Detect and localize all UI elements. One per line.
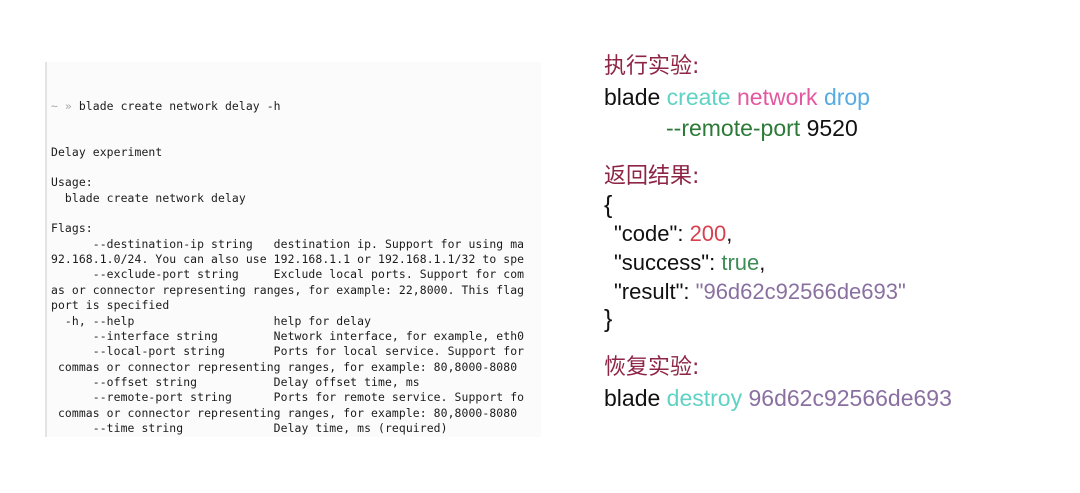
json-value-success: true <box>721 250 759 275</box>
network-target-token: network <box>737 84 818 110</box>
restore-heading: 恢复实验: <box>604 353 1044 383</box>
terminal-line: -h, --help help for delay <box>51 314 541 329</box>
terminal-line: blade create network delay <box>51 191 541 206</box>
remote-port-flag-token: --remote-port <box>666 115 800 141</box>
terminal-line: --exclude-port string Exclude local port… <box>51 267 541 282</box>
terminal-line: 92.168.1.0/24. You can also use 192.168.… <box>51 252 541 267</box>
terminal-output-panel: ~ » blade create network delay -h Delay … <box>45 62 541 437</box>
prompt-symbol: ~ » <box>51 99 72 113</box>
terminal-line: --local-port string Ports for local serv… <box>51 344 541 359</box>
json-open-brace: { <box>604 192 1044 219</box>
spacer-execute-result <box>604 144 1044 162</box>
json-key-code: "code": <box>614 221 683 246</box>
restore-experiment-section: 恢复实验: blade destroy 96d62c92566de693 <box>604 353 1044 414</box>
execute-experiment-section: 执行实验: blade create network drop --remote… <box>604 52 1044 144</box>
json-comma-code: , <box>726 221 732 246</box>
json-field-success: "success": true, <box>604 248 1044 277</box>
terminal-line: commas or connector representing ranges,… <box>51 360 541 375</box>
terminal-line <box>51 160 541 175</box>
drop-action-token: drop <box>824 84 870 110</box>
terminal-line: Usage: <box>51 175 541 190</box>
json-value-result: "96d62c92566de693" <box>696 279 906 304</box>
terminal-line: commas or connector representing ranges,… <box>51 406 541 421</box>
json-field-code: "code": 200, <box>604 219 1044 248</box>
execute-command-line-1: blade create network drop <box>604 82 1044 113</box>
remote-port-value-token: 9520 <box>807 115 858 141</box>
terminal-line: --destination-ip string destination ip. … <box>51 237 541 252</box>
create-verb-token: create <box>667 84 731 110</box>
terminal-prompt-line: ~ » blade create network delay -h <box>51 99 541 114</box>
destroy-uid-token: 96d62c92566de693 <box>749 385 952 411</box>
terminal-line: Flags: <box>51 221 541 236</box>
execute-heading: 执行实验: <box>604 52 1044 82</box>
terminal-line: Delay experiment <box>51 145 541 160</box>
blade-binary-token-restore: blade <box>604 385 660 411</box>
terminal-text: ~ » blade create network delay -h Delay … <box>51 68 541 437</box>
destroy-verb-token: destroy <box>667 385 742 411</box>
terminal-line: --time string Delay time, ms (required) <box>51 421 541 436</box>
json-key-result: "result": <box>614 279 690 304</box>
terminal-line: as or connector representing ranges, for… <box>51 283 541 298</box>
blade-binary-token: blade <box>604 84 660 110</box>
restore-command-line: blade destroy 96d62c92566de693 <box>604 383 1044 414</box>
terminal-line: --interface string Network interface, fo… <box>51 329 541 344</box>
json-value-code: 200 <box>690 221 727 246</box>
json-key-success: "success": <box>614 250 715 275</box>
terminal-command-text: blade create network delay -h <box>79 99 281 113</box>
terminal-command <box>72 99 79 113</box>
terminal-line: --remote-port string Ports for remote se… <box>51 390 541 405</box>
terminal-line: port is specified <box>51 298 541 313</box>
result-heading: 返回结果: <box>604 162 1044 192</box>
terminal-line: --offset string Delay offset time, ms <box>51 375 541 390</box>
json-comma-success: , <box>759 250 765 275</box>
annotation-panel: 执行实验: blade create network drop --remote… <box>604 52 1044 414</box>
spacer-result-restore <box>604 333 1044 353</box>
terminal-line: --timeout string set timeout for experim… <box>51 436 541 437</box>
result-section: 返回结果: { "code": 200, "success": true, "r… <box>604 162 1044 333</box>
terminal-line <box>51 206 541 221</box>
json-close-brace: } <box>604 306 1044 333</box>
json-field-result: "result": "96d62c92566de693" <box>604 277 1044 306</box>
execute-command-line-2: --remote-port 9520 <box>604 113 1044 144</box>
